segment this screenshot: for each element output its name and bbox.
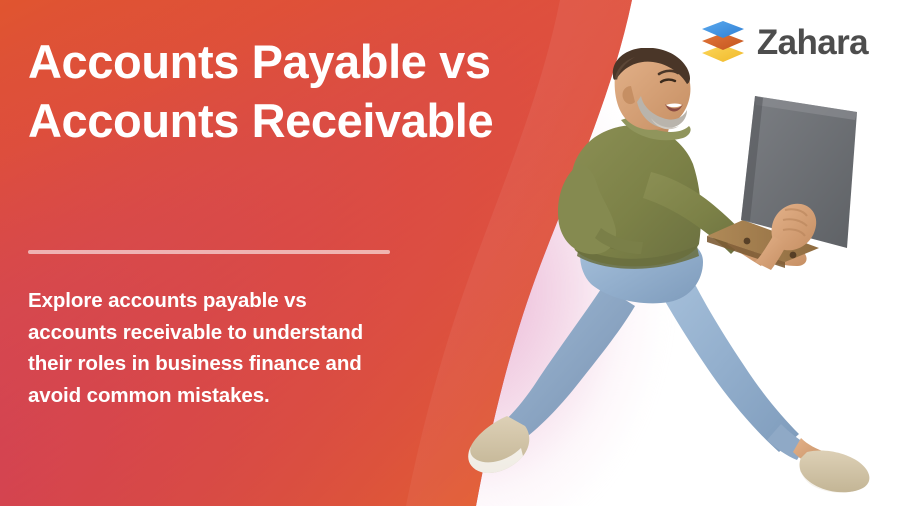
divider-rule xyxy=(28,250,390,254)
headline-line-2: Accounts Receivable xyxy=(28,91,548,150)
stacked-layers-icon xyxy=(700,20,746,64)
logo-wordmark: Zahara xyxy=(757,25,868,60)
marketing-banner: Accounts Payable vs Accounts Receivable … xyxy=(0,0,900,506)
headline-line-1: Accounts Payable vs xyxy=(28,32,548,91)
brand-logo[interactable]: Zahara xyxy=(700,20,868,64)
logo-layer-top xyxy=(702,21,744,38)
subtitle-text: Explore accounts payable vs accounts rec… xyxy=(28,285,368,411)
text-content: Accounts Payable vs Accounts Receivable … xyxy=(28,0,528,506)
page-title: Accounts Payable vs Accounts Receivable xyxy=(28,32,548,150)
